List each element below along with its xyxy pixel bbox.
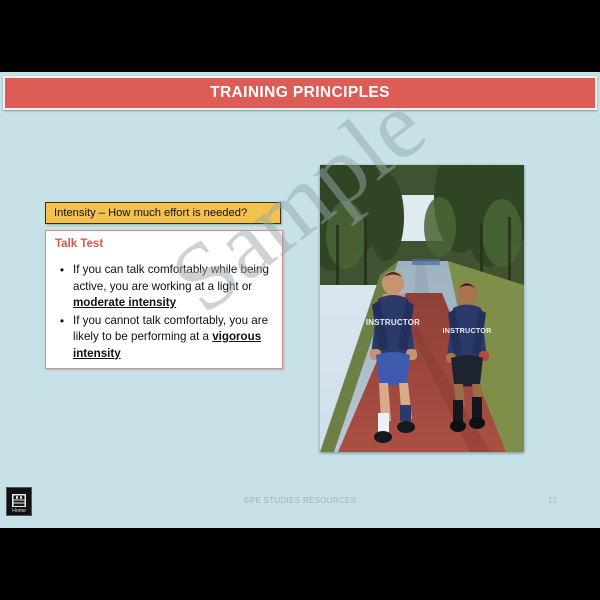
bullet-marker: • <box>51 262 73 312</box>
bullet-emphasis: moderate intensity <box>73 296 176 309</box>
presentation-slide: TRAINING PRINCIPLES Intensity – How much… <box>0 72 600 528</box>
bullet-text: If you cannot talk comfortably, you are … <box>73 313 276 363</box>
svg-text:INSTRUCTOR: INSTRUCTOR <box>443 326 493 335</box>
screenshot-stage: TRAINING PRINCIPLES Intensity – How much… <box>0 0 600 600</box>
home-icon <box>11 493 27 508</box>
runners-photo-graphic: INSTRUCTOR <box>320 165 524 452</box>
intensity-callout: Intensity – How much effort is needed? <box>45 202 281 224</box>
intensity-callout-label: Intensity – How much effort is needed? <box>46 207 247 219</box>
talk-test-box: Talk Test • If you can talk comfortably … <box>45 230 283 369</box>
talk-test-heading: Talk Test <box>55 238 103 250</box>
page-number: 11 <box>548 495 557 505</box>
list-item: • If you can talk comfortably while bein… <box>51 262 276 312</box>
bullet-text: If you can talk comfortably while being … <box>73 262 276 312</box>
runners-photo: INSTRUCTOR <box>320 165 524 452</box>
bullet-marker: • <box>51 313 73 363</box>
slide-title-fill: TRAINING PRINCIPLES <box>5 78 595 108</box>
home-button[interactable]: Home <box>6 487 32 516</box>
talk-test-bullet-list: • If you can talk comfortably while bein… <box>51 262 276 363</box>
home-button-label: Home <box>12 509 26 514</box>
bullet-lead: If you can talk comfortably while being … <box>73 263 269 293</box>
footer-credit: ©PE STUDIES RESOURCES <box>0 496 600 505</box>
page-title: TRAINING PRINCIPLES <box>210 84 390 102</box>
svg-text:INSTRUCTOR: INSTRUCTOR <box>366 318 420 327</box>
list-item: • If you cannot talk comfortably, you ar… <box>51 313 276 363</box>
slide-title-bar: TRAINING PRINCIPLES <box>3 76 597 110</box>
